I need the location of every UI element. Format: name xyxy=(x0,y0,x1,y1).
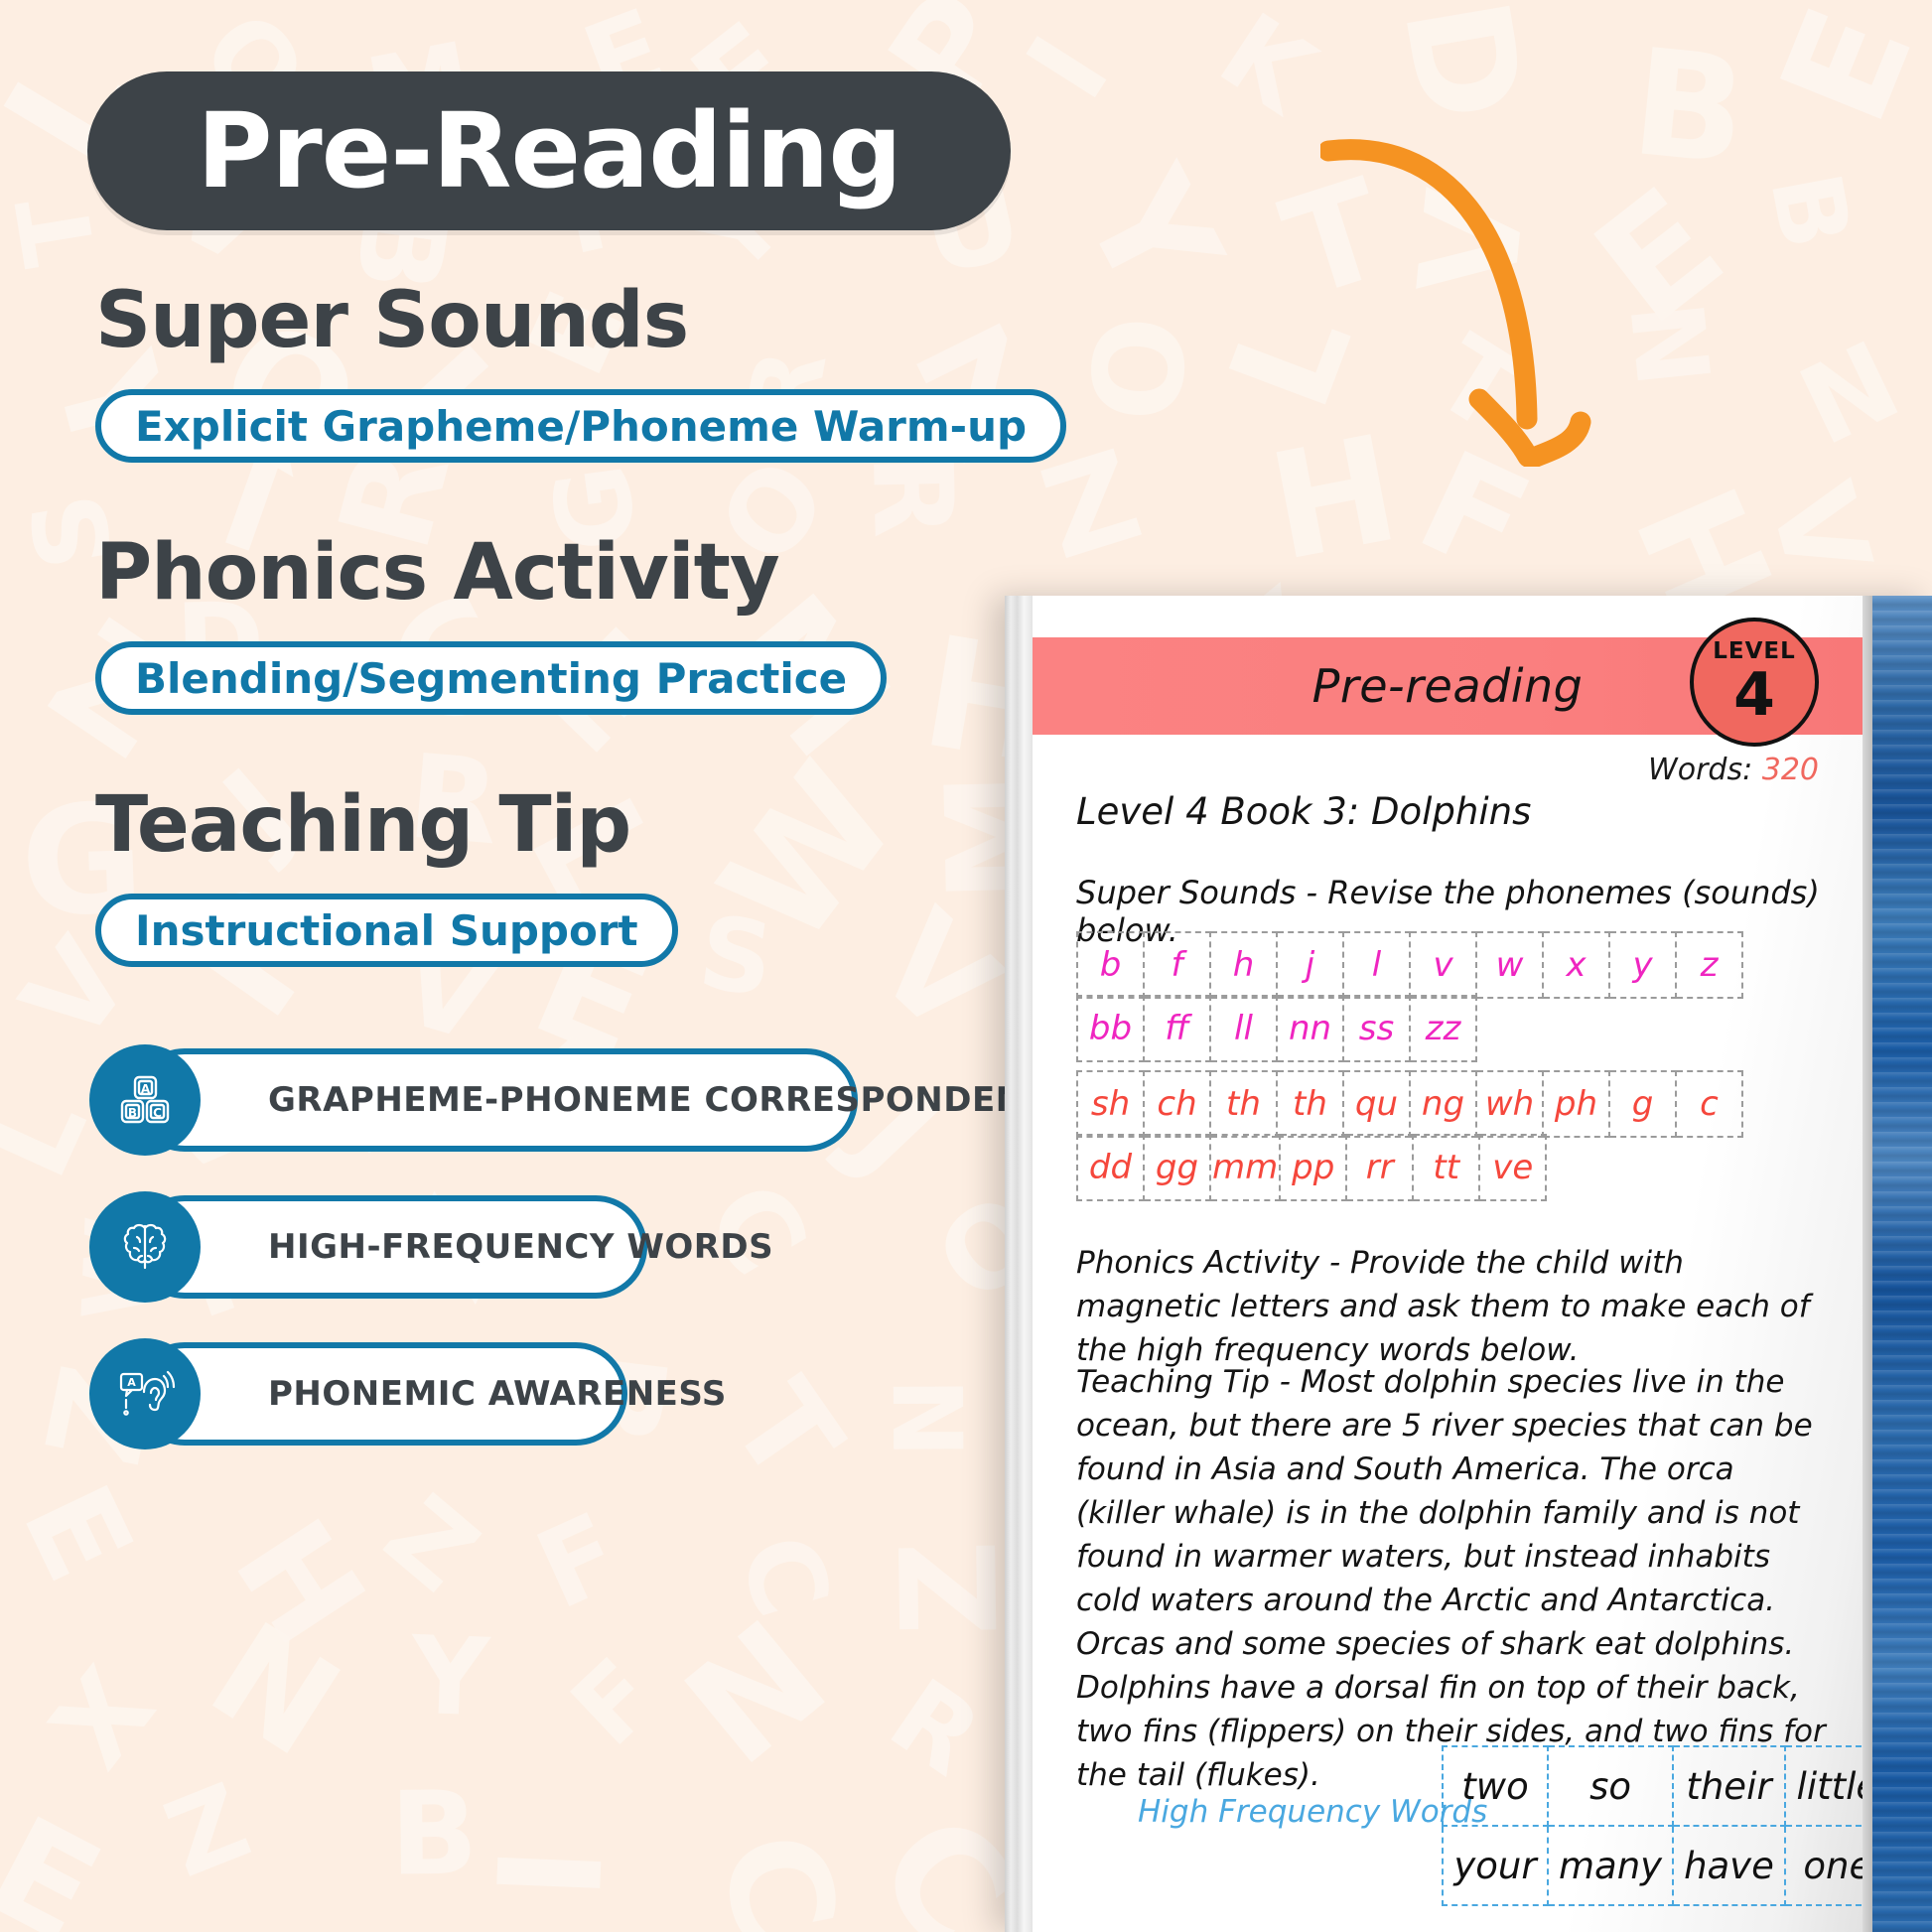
background-letter: E xyxy=(1759,0,1932,141)
teaching-tip-paragraph: Teaching Tip - Most dolphin species live… xyxy=(1076,1360,1827,1797)
phoneme-table-pink-row2: bbffllnnsszz xyxy=(1076,995,1477,1062)
phoneme-cell: ve xyxy=(1479,1135,1546,1200)
background-letter: B xyxy=(1626,30,1752,187)
background-letter: N xyxy=(1618,298,1726,391)
background-letter: B xyxy=(1756,167,1864,256)
phoneme-row: bbffllnnsszz xyxy=(1077,996,1476,1061)
hfw-row: yourmanyhaveone xyxy=(1443,1826,1863,1905)
section-heading-super-sounds: Super Sounds xyxy=(95,276,688,365)
phoneme-cell: f xyxy=(1144,932,1210,998)
svg-text:A: A xyxy=(141,1082,151,1096)
section-subtitle-phonics-activity: Blending/Segmenting Practice xyxy=(95,641,887,715)
phoneme-cell: qu xyxy=(1343,1071,1410,1137)
background-letter: K xyxy=(1203,0,1328,129)
level-badge: LEVEL 4 xyxy=(1690,618,1819,747)
section-subtitle-teaching-tip-label: Instructional Support xyxy=(135,906,638,955)
background-letter: Y xyxy=(1059,151,1241,315)
brain-icon xyxy=(89,1191,201,1303)
svg-text:C: C xyxy=(153,1106,162,1120)
phoneme-cell: l xyxy=(1343,932,1410,998)
book-preview[interactable]: Pre-reading LEVEL 4 Words: 320 Level 4 B… xyxy=(1005,596,1932,1932)
section-subtitle-super-sounds: Explicit Grapheme/Phoneme Warm-up xyxy=(95,389,1066,463)
hfw-cell: two xyxy=(1443,1746,1548,1826)
hfw-cell: your xyxy=(1443,1826,1548,1905)
phoneme-cell: h xyxy=(1210,932,1277,998)
page-title-pill: Pre-Reading xyxy=(87,71,1011,230)
book-spine xyxy=(1863,596,1872,1932)
phoneme-cell: ch xyxy=(1144,1071,1210,1137)
phoneme-cell: y xyxy=(1609,932,1676,998)
page-header-title: Pre-reading xyxy=(1312,659,1584,713)
book-gutter xyxy=(1005,596,1033,1932)
phoneme-cell: b xyxy=(1077,932,1144,998)
phoneme-row: ddggmmpprrttve xyxy=(1077,1135,1546,1200)
phoneme-cell: w xyxy=(1476,932,1543,998)
phoneme-table-pink-row1: bfhjlvwxyz xyxy=(1076,931,1743,999)
section-subtitle-teaching-tip: Instructional Support xyxy=(95,894,678,967)
phoneme-cell: th xyxy=(1277,1071,1343,1137)
phoneme-cell: c xyxy=(1676,1071,1742,1137)
section-heading-phonics-activity: Phonics Activity xyxy=(95,528,779,618)
phoneme-cell: v xyxy=(1410,932,1476,998)
phoneme-cell: nn xyxy=(1277,996,1343,1061)
section-subtitle-phonics-activity-label: Blending/Segmenting Practice xyxy=(135,654,847,703)
feature-bar: PHONEMIC AWARENESS xyxy=(133,1342,627,1446)
feature-label-high-frequency-words: HIGH-FREQUENCY WORDS xyxy=(268,1227,773,1267)
hfw-cell: have xyxy=(1673,1826,1785,1905)
phoneme-cell: x xyxy=(1543,932,1609,998)
phoneme-cell: z xyxy=(1676,932,1742,998)
hfw-row: twosotheirlittle xyxy=(1443,1746,1863,1826)
svg-text:A: A xyxy=(127,1376,136,1389)
orange-arrow-icon xyxy=(1320,99,1618,467)
feature-label-phonemic-awareness: PHONEMIC AWARENESS xyxy=(268,1374,727,1414)
phoneme-cell: ll xyxy=(1210,996,1277,1061)
high-frequency-words-label: High Frequency Words xyxy=(1138,1794,1487,1830)
phoneme-cell: bb xyxy=(1077,996,1144,1061)
phoneme-cell: ph xyxy=(1543,1071,1609,1137)
phoneme-cell: dd xyxy=(1077,1135,1144,1200)
phoneme-cell: sh xyxy=(1077,1071,1144,1137)
page-title: Pre-Reading xyxy=(197,90,901,211)
book-title: Level 4 Book 3: Dolphins xyxy=(1076,790,1531,833)
hfw-cell: their xyxy=(1673,1746,1785,1826)
phoneme-cell: gg xyxy=(1144,1135,1210,1200)
phoneme-table-red-row2: ddggmmpprrttve xyxy=(1076,1134,1547,1201)
hfw-cell: so xyxy=(1548,1746,1673,1826)
phoneme-cell: zz xyxy=(1410,996,1476,1061)
feature-bar: GRAPHEME-PHONEME CORRESPONDENCE xyxy=(133,1048,858,1152)
section-heading-teaching-tip: Teaching Tip xyxy=(95,780,630,870)
background-letter: O xyxy=(1070,312,1200,425)
phoneme-cell: pp xyxy=(1280,1135,1346,1200)
background-letter: N xyxy=(1786,326,1914,462)
phonics-activity-paragraph: Phonics Activity - Provide the child wit… xyxy=(1076,1241,1827,1372)
book-cover-edge xyxy=(1872,596,1932,1932)
phoneme-cell: wh xyxy=(1476,1071,1543,1137)
phoneme-row: shchththqungwhphgc xyxy=(1077,1071,1742,1137)
book-page: Pre-reading LEVEL 4 Words: 320 Level 4 B… xyxy=(1033,596,1863,1932)
section-subtitle-super-sounds-label: Explicit Grapheme/Phoneme Warm-up xyxy=(135,402,1027,451)
left-panel: Pre-Reading Super Sounds Explicit Graphe… xyxy=(0,0,1033,1932)
high-frequency-words-table: twosotheirlittleyourmanyhaveone xyxy=(1442,1745,1863,1906)
phoneme-cell: ng xyxy=(1410,1071,1476,1137)
hfw-cell: one xyxy=(1785,1826,1863,1905)
feature-label-grapheme-phoneme: GRAPHEME-PHONEME CORRESPONDENCE xyxy=(268,1080,1073,1120)
phoneme-cell: j xyxy=(1277,932,1343,998)
phoneme-cell: mm xyxy=(1210,1135,1280,1200)
phoneme-cell: ff xyxy=(1144,996,1210,1061)
word-count-value: 320 xyxy=(1762,753,1819,787)
hfw-cell: little xyxy=(1785,1746,1863,1826)
phoneme-table-red-row1: shchththqungwhphgc xyxy=(1076,1070,1743,1138)
level-badge-number: 4 xyxy=(1733,665,1775,725)
feature-bar: HIGH-FREQUENCY WORDS xyxy=(133,1195,647,1299)
phoneme-cell: tt xyxy=(1413,1135,1479,1200)
ear-listening-icon: A xyxy=(89,1338,201,1449)
phoneme-row: bfhjlvwxyz xyxy=(1077,932,1742,998)
abc-blocks-icon: A B C xyxy=(89,1044,201,1156)
hfw-cell: many xyxy=(1548,1826,1673,1905)
svg-text:B: B xyxy=(128,1106,137,1120)
phoneme-cell: rr xyxy=(1346,1135,1413,1200)
background-letter: V xyxy=(1751,473,1886,590)
word-count-label: Words: xyxy=(1648,753,1752,787)
phoneme-cell: th xyxy=(1210,1071,1277,1137)
phoneme-cell: g xyxy=(1609,1071,1676,1137)
phoneme-cell: ss xyxy=(1343,996,1410,1061)
word-count: Words: 320 xyxy=(1648,753,1819,787)
